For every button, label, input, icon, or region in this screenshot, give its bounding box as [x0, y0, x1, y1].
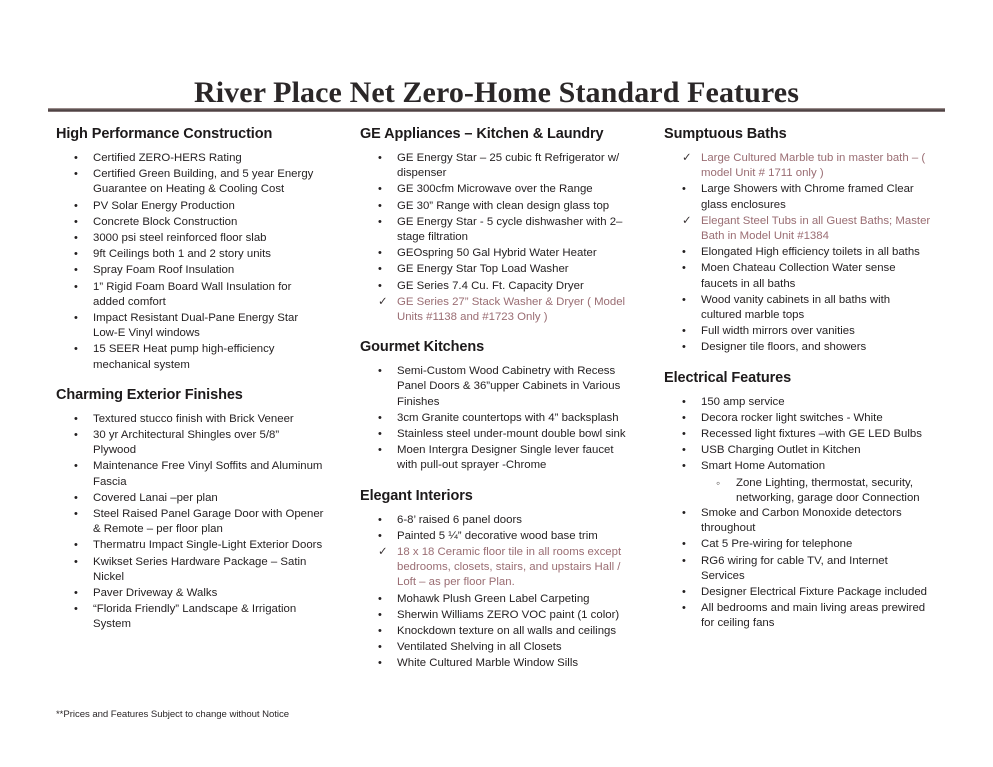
feature-list: Certified ZERO-HERS RatingCertified Gree…	[56, 151, 324, 373]
feature-item: White Cultured Marble Window Sills	[360, 656, 632, 671]
feature-list: Semi-Custom Wood Cabinetry with Recess P…	[360, 364, 632, 473]
feature-item: Zone Lighting, thermostat, security, net…	[664, 476, 932, 506]
feature-item-text: PV Solar Energy Production	[93, 199, 324, 214]
feature-item: Moen Intergra Designer Single lever fauc…	[360, 443, 632, 473]
bullet-icon	[74, 263, 88, 278]
section-charming-exterior-finishes: Charming Exterior FinishesTextured stucc…	[56, 387, 324, 633]
document-page: River Place Net Zero-Home Standard Featu…	[0, 0, 993, 767]
feature-item: Paver Driveway & Walks	[56, 586, 324, 601]
bullet-icon	[378, 624, 392, 639]
feature-item-text: Moen Intergra Designer Single lever fauc…	[397, 443, 632, 473]
feature-item: 3000 psi steel reinforced floor slab	[56, 231, 324, 246]
section-sumptuous-baths: Sumptuous BathsLarge Cultured Marble tub…	[664, 126, 932, 356]
feature-item-text: 150 amp service	[701, 395, 932, 410]
feature-item-text: Maintenance Free Vinyl Soffits and Alumi…	[93, 459, 324, 489]
bullet-icon	[378, 364, 392, 379]
bullet-icon	[682, 245, 696, 260]
feature-item-text: Full width mirrors over vanities	[701, 324, 932, 339]
feature-item: GE 30” Range with clean design glass top	[360, 199, 632, 214]
bullet-icon	[74, 215, 88, 230]
bullet-icon	[682, 411, 696, 426]
feature-item: GE Series 27” Stack Washer & Dryer ( Mod…	[360, 295, 632, 325]
feature-list: 150 amp serviceDecora rocker light switc…	[664, 395, 932, 632]
section-heading: Sumptuous Baths	[664, 126, 932, 142]
feature-item: Smoke and Carbon Monoxide detectors thro…	[664, 506, 932, 536]
bullet-icon	[682, 537, 696, 552]
feature-item: Sherwin Williams ZERO VOC paint (1 color…	[360, 608, 632, 623]
feature-item: Knockdown texture on all walls and ceili…	[360, 624, 632, 639]
feature-item-text: Smart Home Automation	[701, 459, 932, 474]
feature-item-text: Cat 5 Pre-wiring for telephone	[701, 537, 932, 552]
bullet-icon	[378, 182, 392, 197]
feature-item: 9ft Ceilings both 1 and 2 story units	[56, 247, 324, 262]
feature-item-text: RG6 wiring for cable TV, and Internet Se…	[701, 554, 932, 584]
feature-item: USB Charging Outlet in Kitchen	[664, 443, 932, 458]
section-high-performance-construction: High Performance ConstructionCertified Z…	[56, 126, 324, 373]
section-ge-appliances-kitchen-laundry: GE Appliances – Kitchen & LaundryGE Ener…	[360, 126, 632, 325]
feature-item: Large Showers with Chrome framed Clear g…	[664, 182, 932, 212]
feature-item-text: Zone Lighting, thermostat, security, net…	[736, 476, 932, 506]
bullet-icon	[74, 586, 88, 601]
feature-item: 6-8’ raised 6 panel doors	[360, 513, 632, 528]
feature-item-text: Impact Resistant Dual-Pane Energy Star L…	[93, 311, 324, 341]
feature-item: GE 300cfm Microwave over the Range	[360, 182, 632, 197]
bullet-icon	[682, 293, 696, 308]
feature-item: Semi-Custom Wood Cabinetry with Recess P…	[360, 364, 632, 410]
feature-item-text: Covered Lanai –per plan	[93, 491, 324, 506]
feature-item-text: GE Series 27” Stack Washer & Dryer ( Mod…	[397, 295, 632, 325]
feature-item: GE Series 7.4 Cu. Ft. Capacity Dryer	[360, 279, 632, 294]
bullet-icon	[74, 538, 88, 553]
feature-item-text: GE 300cfm Microwave over the Range	[397, 182, 632, 197]
bullet-icon	[74, 167, 88, 182]
bullet-icon	[74, 428, 88, 443]
feature-item: GE Energy Star - 5 cycle dishwasher with…	[360, 215, 632, 245]
feature-item: Concrete Block Construction	[56, 215, 324, 230]
bullet-icon	[682, 324, 696, 339]
feature-item: Elongated High efficiency toilets in all…	[664, 245, 932, 260]
bullet-icon	[378, 656, 392, 671]
feature-item-text: GE Energy Star Top Load Washer	[397, 262, 632, 277]
feature-item: Kwikset Series Hardware Package – Satin …	[56, 555, 324, 585]
feature-item-text: Paver Driveway & Walks	[93, 586, 324, 601]
feature-item: 30 yr Architectural Shingles over 5/8” P…	[56, 428, 324, 458]
feature-item-text: 3cm Granite countertops with 4” backspla…	[397, 411, 632, 426]
feature-item: Recessed light fixtures –with GE LED Bul…	[664, 427, 932, 442]
bullet-icon	[378, 592, 392, 607]
section-elegant-interiors: Elegant Interiors6-8’ raised 6 panel doo…	[360, 488, 632, 672]
feature-item-text: Recessed light fixtures –with GE LED Bul…	[701, 427, 932, 442]
feature-item-text: Painted 5 ¼” decorative wood base trim	[397, 529, 632, 544]
bullet-icon	[682, 506, 696, 521]
feature-item: Large Cultured Marble tub in master bath…	[664, 151, 932, 181]
feature-item: All bedrooms and main living areas prewi…	[664, 601, 932, 631]
bullet-icon	[682, 261, 696, 276]
feature-item: Painted 5 ¼” decorative wood base trim	[360, 529, 632, 544]
feature-item: Cat 5 Pre-wiring for telephone	[664, 537, 932, 552]
feature-item-text: Mohawk Plush Green Label Carpeting	[397, 592, 632, 607]
feature-item: Designer tile floors, and showers	[664, 340, 932, 355]
feature-item-text: GE Series 7.4 Cu. Ft. Capacity Dryer	[397, 279, 632, 294]
feature-item: Maintenance Free Vinyl Soffits and Alumi…	[56, 459, 324, 489]
section-heading: Electrical Features	[664, 370, 932, 386]
checkmark-icon	[378, 295, 392, 310]
bullet-icon	[378, 199, 392, 214]
feature-item: Designer Electrical Fixture Package incl…	[664, 585, 932, 600]
feature-item: Textured stucco finish with Brick Veneer	[56, 412, 324, 427]
feature-item-text: All bedrooms and main living areas prewi…	[701, 601, 932, 631]
bullet-icon	[378, 427, 392, 442]
feature-item-text: 9ft Ceilings both 1 and 2 story units	[93, 247, 324, 262]
bullet-icon	[682, 554, 696, 569]
bullet-icon	[378, 246, 392, 261]
feature-item: Full width mirrors over vanities	[664, 324, 932, 339]
feature-item-text: Certified ZERO-HERS Rating	[93, 151, 324, 166]
feature-list: GE Energy Star – 25 cubic ft Refrigerato…	[360, 151, 632, 325]
feature-item: 1” Rigid Foam Board Wall Insulation for …	[56, 280, 324, 310]
feature-item-text: Kwikset Series Hardware Package – Satin …	[93, 555, 324, 585]
feature-item: PV Solar Energy Production	[56, 199, 324, 214]
feature-item: “Florida Friendly” Landscape & Irrigatio…	[56, 602, 324, 632]
feature-item: 150 amp service	[664, 395, 932, 410]
bullet-icon	[74, 555, 88, 570]
feature-item: Wood vanity cabinets in all baths with c…	[664, 293, 932, 323]
feature-item-text: USB Charging Outlet in Kitchen	[701, 443, 932, 458]
bullet-icon	[74, 491, 88, 506]
feature-item: Covered Lanai –per plan	[56, 491, 324, 506]
feature-item-text: GE Energy Star - 5 cycle dishwasher with…	[397, 215, 632, 245]
feature-item: 3cm Granite countertops with 4” backspla…	[360, 411, 632, 426]
feature-item-text: Moen Chateau Collection Water sense fauc…	[701, 261, 932, 291]
feature-item-text: 18 x 18 Ceramic floor tile in all rooms …	[397, 545, 632, 591]
feature-item-text: Sherwin Williams ZERO VOC paint (1 color…	[397, 608, 632, 623]
feature-item-text: GE 30” Range with clean design glass top	[397, 199, 632, 214]
feature-item-text: Concrete Block Construction	[93, 215, 324, 230]
feature-item-text: GE Energy Star – 25 cubic ft Refrigerato…	[397, 151, 632, 181]
section-heading: Charming Exterior Finishes	[56, 387, 324, 403]
feature-item-text: White Cultured Marble Window Sills	[397, 656, 632, 671]
feature-item-text: Ventilated Shelving in all Closets	[397, 640, 632, 655]
feature-item-text: Thermatru Impact Single-Light Exterior D…	[93, 538, 324, 553]
feature-item: GE Energy Star Top Load Washer	[360, 262, 632, 277]
feature-item-text: Stainless steel under-mount double bowl …	[397, 427, 632, 442]
feature-list: 6-8’ raised 6 panel doorsPainted 5 ¼” de…	[360, 513, 632, 672]
column-left: High Performance ConstructionCertified Z…	[56, 126, 324, 635]
feature-item-text: Designer Electrical Fixture Package incl…	[701, 585, 932, 600]
feature-item: Mohawk Plush Green Label Carpeting	[360, 592, 632, 607]
feature-item-text: Designer tile floors, and showers	[701, 340, 932, 355]
feature-item-text: 1” Rigid Foam Board Wall Insulation for …	[93, 280, 324, 310]
feature-item-text: Steel Raised Panel Garage Door with Open…	[93, 507, 324, 537]
bullet-icon	[682, 340, 696, 355]
bullet-icon	[378, 411, 392, 426]
bullet-icon	[682, 601, 696, 616]
section-heading: High Performance Construction	[56, 126, 324, 142]
column-right: Sumptuous BathsLarge Cultured Marble tub…	[664, 126, 932, 634]
feature-item-text: 30 yr Architectural Shingles over 5/8” P…	[93, 428, 324, 458]
bullet-icon	[378, 529, 392, 544]
section-heading: Gourmet Kitchens	[360, 339, 632, 355]
feature-item: Thermatru Impact Single-Light Exterior D…	[56, 538, 324, 553]
checkmark-icon	[378, 545, 392, 560]
feature-item-text: 15 SEER Heat pump high-efficiency mechan…	[93, 342, 324, 372]
feature-item: Ventilated Shelving in all Closets	[360, 640, 632, 655]
feature-item-text: “Florida Friendly” Landscape & Irrigatio…	[93, 602, 324, 632]
feature-item: Steel Raised Panel Garage Door with Open…	[56, 507, 324, 537]
feature-item-text: Wood vanity cabinets in all baths with c…	[701, 293, 932, 323]
section-gourmet-kitchens: Gourmet KitchensSemi-Custom Wood Cabinet…	[360, 339, 632, 473]
feature-item: GE Energy Star – 25 cubic ft Refrigerato…	[360, 151, 632, 181]
bullet-icon	[74, 311, 88, 326]
feature-item-text: Decora rocker light switches - White	[701, 411, 932, 426]
bullet-icon	[74, 412, 88, 427]
bullet-icon	[378, 151, 392, 166]
bullet-icon	[74, 342, 88, 357]
feature-item: 15 SEER Heat pump high-efficiency mechan…	[56, 342, 324, 372]
bullet-icon	[682, 395, 696, 410]
bullet-icon	[74, 280, 88, 295]
feature-item-text: Large Showers with Chrome framed Clear g…	[701, 182, 932, 212]
feature-item-text: Textured stucco finish with Brick Veneer	[93, 412, 324, 427]
feature-item-text: Elongated High efficiency toilets in all…	[701, 245, 932, 260]
bullet-icon	[682, 182, 696, 197]
bullet-icon	[74, 507, 88, 522]
column-middle: GE Appliances – Kitchen & LaundryGE Ener…	[360, 126, 632, 674]
bullet-icon	[378, 262, 392, 277]
feature-item-text: Certified Green Building, and 5 year Ene…	[93, 167, 324, 197]
feature-item-text: Semi-Custom Wood Cabinetry with Recess P…	[397, 364, 632, 410]
bullet-icon	[378, 608, 392, 623]
bullet-icon	[378, 443, 392, 458]
feature-item: Decora rocker light switches - White	[664, 411, 932, 426]
bullet-icon	[74, 247, 88, 262]
section-heading: Elegant Interiors	[360, 488, 632, 504]
bullet-icon	[378, 640, 392, 655]
feature-item-text: Smoke and Carbon Monoxide detectors thro…	[701, 506, 932, 536]
bullet-icon	[378, 513, 392, 528]
feature-item: Stainless steel under-mount double bowl …	[360, 427, 632, 442]
bullet-icon	[378, 215, 392, 230]
bullet-icon	[74, 459, 88, 474]
section-electrical-features: Electrical Features150 amp serviceDecora…	[664, 370, 932, 632]
feature-item: Spray Foam Roof Insulation	[56, 263, 324, 278]
feature-item-text: Large Cultured Marble tub in master bath…	[701, 151, 932, 181]
feature-item: Smart Home Automation	[664, 459, 932, 474]
bullet-icon	[682, 427, 696, 442]
bullet-icon	[378, 279, 392, 294]
feature-item: Moen Chateau Collection Water sense fauc…	[664, 261, 932, 291]
bullet-icon	[74, 602, 88, 617]
section-heading: GE Appliances – Kitchen & Laundry	[360, 126, 632, 142]
checkmark-icon	[682, 151, 696, 166]
feature-item: RG6 wiring for cable TV, and Internet Se…	[664, 554, 932, 584]
feature-item: Certified ZERO-HERS Rating	[56, 151, 324, 166]
feature-item-text: 6-8’ raised 6 panel doors	[397, 513, 632, 528]
feature-item-text: 3000 psi steel reinforced floor slab	[93, 231, 324, 246]
bullet-icon	[682, 443, 696, 458]
hollow-bullet-icon	[716, 476, 730, 492]
bullet-icon	[682, 459, 696, 474]
bullet-icon	[682, 585, 696, 600]
checkmark-icon	[682, 214, 696, 229]
feature-item: Elegant Steel Tubs in all Guest Baths; M…	[664, 214, 932, 244]
feature-item: Impact Resistant Dual-Pane Energy Star L…	[56, 311, 324, 341]
title-divider-rule	[48, 108, 945, 112]
page-title: River Place Net Zero-Home Standard Featu…	[0, 76, 993, 110]
feature-item-text: Elegant Steel Tubs in all Guest Baths; M…	[701, 214, 932, 244]
bullet-icon	[74, 151, 88, 166]
feature-item-text: GEOspring 50 Gal Hybrid Water Heater	[397, 246, 632, 261]
feature-list: Textured stucco finish with Brick Veneer…	[56, 412, 324, 633]
feature-item-text: Knockdown texture on all walls and ceili…	[397, 624, 632, 639]
features-columns: High Performance ConstructionCertified Z…	[0, 126, 993, 726]
footer-disclaimer: **Prices and Features Subject to change …	[56, 709, 289, 720]
bullet-icon	[74, 231, 88, 246]
feature-item: Certified Green Building, and 5 year Ene…	[56, 167, 324, 197]
feature-item: GEOspring 50 Gal Hybrid Water Heater	[360, 246, 632, 261]
feature-item: 18 x 18 Ceramic floor tile in all rooms …	[360, 545, 632, 591]
feature-list: Large Cultured Marble tub in master bath…	[664, 151, 932, 356]
bullet-icon	[74, 199, 88, 214]
feature-item-text: Spray Foam Roof Insulation	[93, 263, 324, 278]
